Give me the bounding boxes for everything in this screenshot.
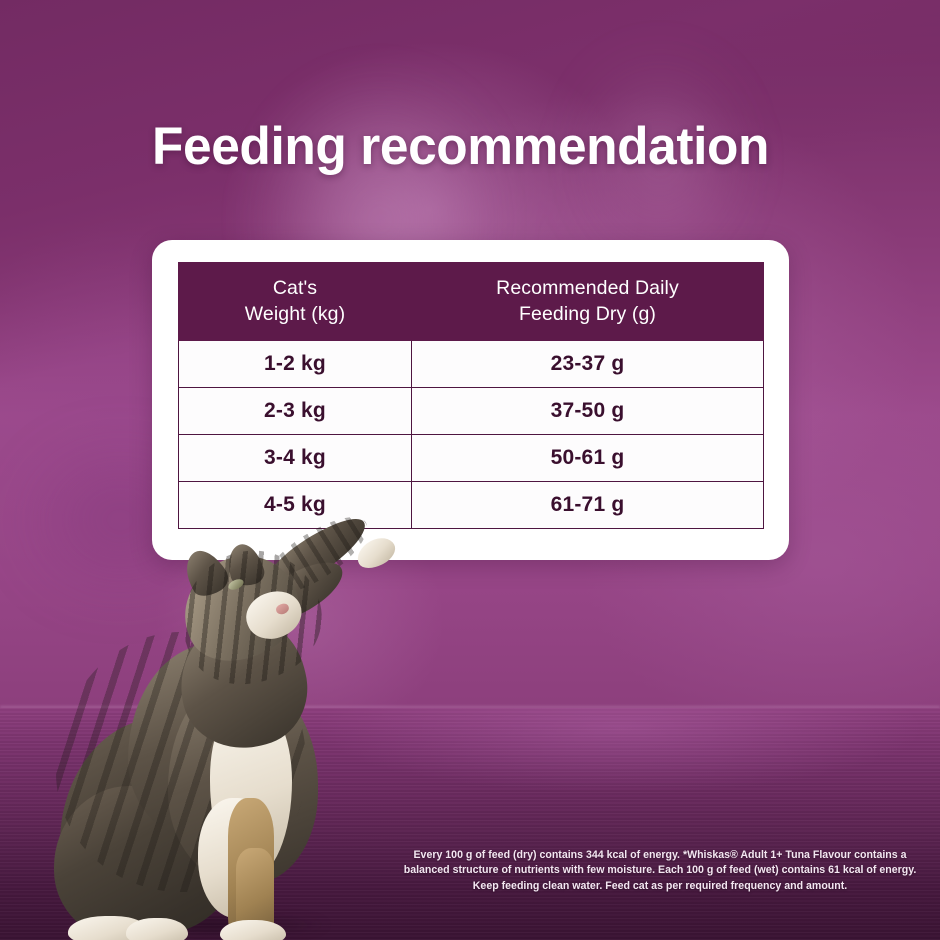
table-row: 3-4 kg 50-61 g bbox=[179, 435, 764, 482]
cat-front-paw bbox=[220, 920, 286, 940]
column-header-feeding: Recommended Daily Feeding Dry (g) bbox=[412, 263, 764, 341]
column-header-weight: Cat's Weight (kg) bbox=[179, 263, 412, 341]
table-body: 1-2 kg 23-37 g 2-3 kg 37-50 g 3-4 kg 50-… bbox=[179, 341, 764, 529]
cell-weight: 1-2 kg bbox=[179, 341, 412, 388]
feeding-table-card: Cat's Weight (kg) Recommended Daily Feed… bbox=[152, 240, 789, 560]
feeding-recommendation-poster: Feeding recommendation Cat's Weight (kg)… bbox=[0, 0, 940, 940]
table-header-row: Cat's Weight (kg) Recommended Daily Feed… bbox=[179, 263, 764, 341]
cat-photo bbox=[60, 548, 420, 940]
column-header-weight-line2: Weight (kg) bbox=[179, 302, 411, 327]
table-row: 1-2 kg 23-37 g bbox=[179, 341, 764, 388]
column-header-feeding-line1: Recommended Daily bbox=[496, 277, 679, 299]
table-row: 4-5 kg 61-71 g bbox=[179, 482, 764, 529]
cat-hind-paw-second bbox=[126, 918, 188, 940]
column-header-weight-line1: Cat's bbox=[273, 277, 317, 299]
cell-weight: 4-5 kg bbox=[179, 482, 412, 529]
cell-feeding: 50-61 g bbox=[412, 435, 764, 482]
footer-disclaimer: Every 100 g of feed (dry) contains 344 k… bbox=[398, 848, 922, 894]
cell-weight: 2-3 kg bbox=[179, 388, 412, 435]
feeding-table: Cat's Weight (kg) Recommended Daily Feed… bbox=[178, 262, 764, 529]
page-title: Feeding recommendation bbox=[152, 116, 769, 177]
table-row: 2-3 kg 37-50 g bbox=[179, 388, 764, 435]
column-header-feeding-line2: Feeding Dry (g) bbox=[412, 302, 763, 327]
cell-feeding: 37-50 g bbox=[412, 388, 764, 435]
cell-weight: 3-4 kg bbox=[179, 435, 412, 482]
cell-feeding: 61-71 g bbox=[412, 482, 764, 529]
cell-feeding: 23-37 g bbox=[412, 341, 764, 388]
